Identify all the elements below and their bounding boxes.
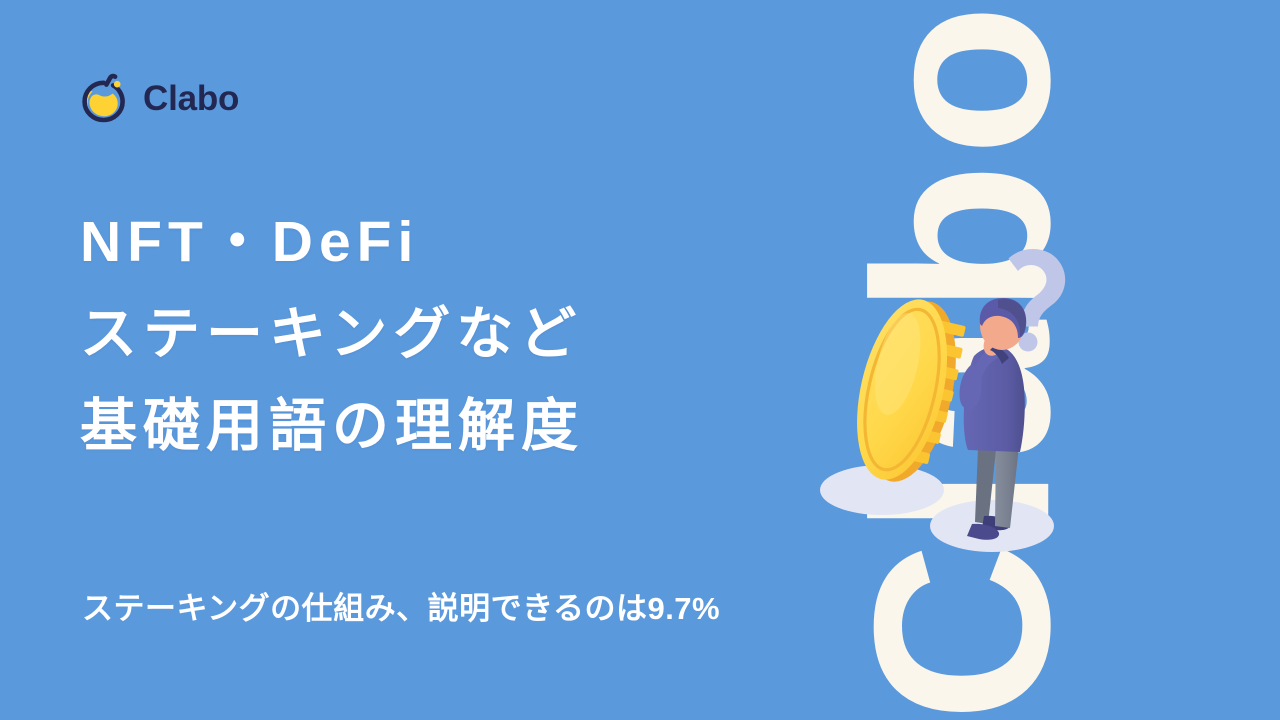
- thinking-person-with-coin-illustration: [812, 238, 1112, 568]
- headline: NFT・DeFi ステーキングなど 基礎用語の理解度: [80, 196, 584, 472]
- subtitle: ステーキングの仕組み、説明できるのは9.7%: [82, 583, 720, 628]
- brand-logo-text: Clabo: [143, 81, 239, 116]
- brand-logo[interactable]: Clabo: [76, 70, 239, 126]
- headline-line-3: 基礎用語の理解度: [80, 380, 584, 472]
- promo-slide: Clabo Clabo NFT・DeFi ステーキングなど 基礎用語の理解度 ス…: [0, 0, 1280, 720]
- headline-line-2: ステーキングなど: [80, 288, 584, 380]
- gold-coin: [841, 291, 972, 491]
- flask-icon: [76, 70, 132, 126]
- headline-line-1: NFT・DeFi: [80, 196, 584, 288]
